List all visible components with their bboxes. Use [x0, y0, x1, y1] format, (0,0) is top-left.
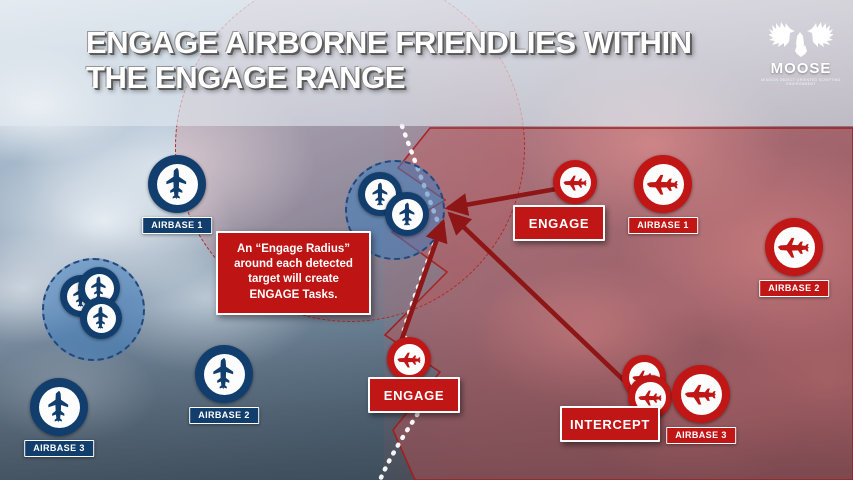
unit-disc-inner	[774, 227, 815, 268]
red-jet-icon	[776, 229, 812, 265]
callout-line-4: ENGAGE Tasks.	[226, 288, 361, 303]
blue-jet-icon	[88, 305, 114, 331]
page-title-line-1: ENGAGE AIRBORNE FRIENDLIES WITHIN	[86, 26, 766, 61]
airbase-label: AIRBASE 1	[142, 217, 212, 234]
blue-airbase-1[interactable]: AIRBASE 1	[148, 155, 206, 213]
red-airbase-3[interactable]: AIRBASE 3	[672, 365, 730, 423]
blue-jet-icon	[41, 389, 77, 425]
task-box-intercept[interactable]: INTERCEPT	[560, 406, 660, 442]
moose-antlers-icon	[769, 12, 833, 60]
blue-jet-icon	[394, 201, 421, 228]
blue-airbase-3[interactable]: AIRBASE 3	[30, 378, 88, 436]
red-unit-disc	[765, 218, 823, 276]
moose-logo-text: MOOSE	[761, 61, 841, 76]
blue-airbase-2[interactable]: AIRBASE 2	[195, 345, 253, 403]
task-box-engage-lower[interactable]: ENGAGE	[368, 377, 460, 413]
unit-disc-inner	[394, 344, 425, 375]
page-title: ENGAGE AIRBORNE FRIENDLIES WITHIN THE EN…	[86, 26, 766, 95]
unit-disc-inner	[157, 164, 198, 205]
callout-line-1: An “Engage Radius”	[226, 242, 361, 257]
unit-disc-inner	[392, 199, 423, 230]
callout-line-3: target will create	[226, 272, 361, 287]
enemy-flight-upper[interactable]	[553, 160, 597, 204]
enemy-flight-lower[interactable]	[387, 337, 431, 381]
moose-logo: MOOSE MISSION OBJECT ORIENTED SCRIPTING …	[761, 12, 841, 90]
red-jet-icon	[645, 166, 681, 202]
red-jet-icon	[396, 346, 423, 373]
airbase-label: AIRBASE 2	[189, 407, 259, 424]
red-airbase-2[interactable]: AIRBASE 2	[765, 218, 823, 276]
friendly-flight-center-2[interactable]	[385, 192, 429, 236]
unit-disc-inner	[681, 374, 722, 415]
callout-line-2: around each detected	[226, 257, 361, 272]
blue-unit-disc	[30, 378, 88, 436]
red-jet-icon	[683, 376, 719, 412]
red-jet-icon	[562, 169, 589, 196]
blue-jet-icon	[159, 166, 195, 202]
moose-logo-subtitle: MISSION OBJECT ORIENTED SCRIPTING ENVIRO…	[761, 78, 841, 86]
airbase-label: AIRBASE 2	[759, 280, 829, 297]
airbase-label: AIRBASE 1	[628, 217, 698, 234]
unit-disc-inner	[560, 167, 591, 198]
airbase-label: AIRBASE 3	[24, 440, 94, 457]
red-airbase-1[interactable]: AIRBASE 1	[634, 155, 692, 213]
unit-disc-inner	[643, 164, 684, 205]
page-title-line-2: THE ENGAGE RANGE	[86, 61, 766, 96]
red-unit-disc	[634, 155, 692, 213]
red-unit-disc	[672, 365, 730, 423]
slide-canvas: ENGAGE AIRBORNE FRIENDLIES WITHIN THE EN…	[0, 0, 853, 480]
task-box-engage-upper[interactable]: ENGAGE	[513, 205, 605, 241]
red-unit-disc	[553, 160, 597, 204]
blue-unit-disc	[80, 297, 122, 339]
friendly-flight-left-3[interactable]	[80, 297, 122, 339]
engage-radius-callout: An “Engage Radius” around each detected …	[216, 231, 371, 315]
unit-disc-inner	[39, 387, 80, 428]
unit-disc-inner	[87, 304, 116, 333]
unit-disc-inner	[204, 354, 245, 395]
red-unit-disc	[387, 337, 431, 381]
airbase-label: AIRBASE 3	[666, 427, 736, 444]
blue-unit-disc	[148, 155, 206, 213]
blue-jet-icon	[206, 356, 242, 392]
blue-unit-disc	[195, 345, 253, 403]
blue-unit-disc	[385, 192, 429, 236]
